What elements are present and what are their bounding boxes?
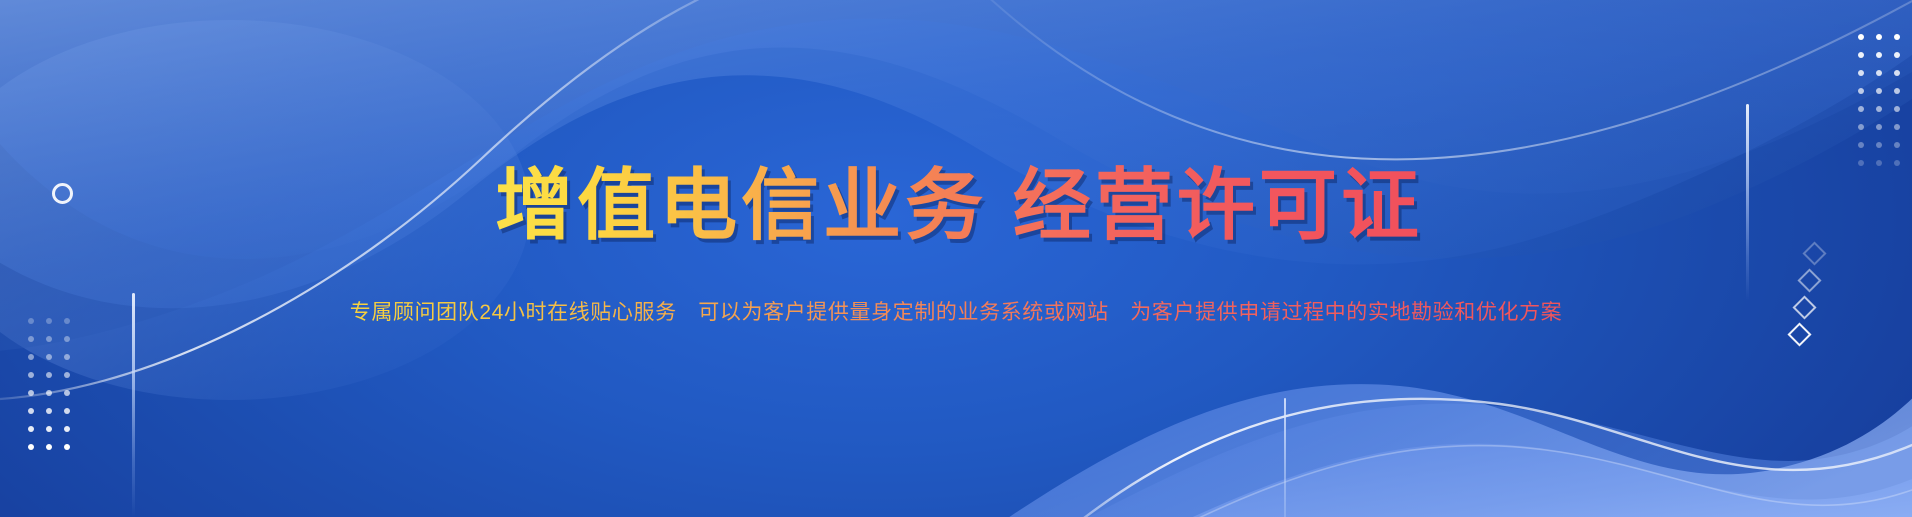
- banner-subtitle: 专属顾问团队24小时在线贴心服务 可以为客户提供量身定制的业务系统或网站 为客户…: [350, 296, 1563, 326]
- banner-text-block: 增值电信业务 经营许可证 专属顾问团队24小时在线贴心服务 可以为客户提供量身定…: [0, 0, 1912, 517]
- banner-title: 增值电信业务 经营许可证: [495, 164, 1423, 247]
- promo-banner: 增值电信业务 经营许可证 专属顾问团队24小时在线贴心服务 可以为客户提供量身定…: [0, 0, 1912, 517]
